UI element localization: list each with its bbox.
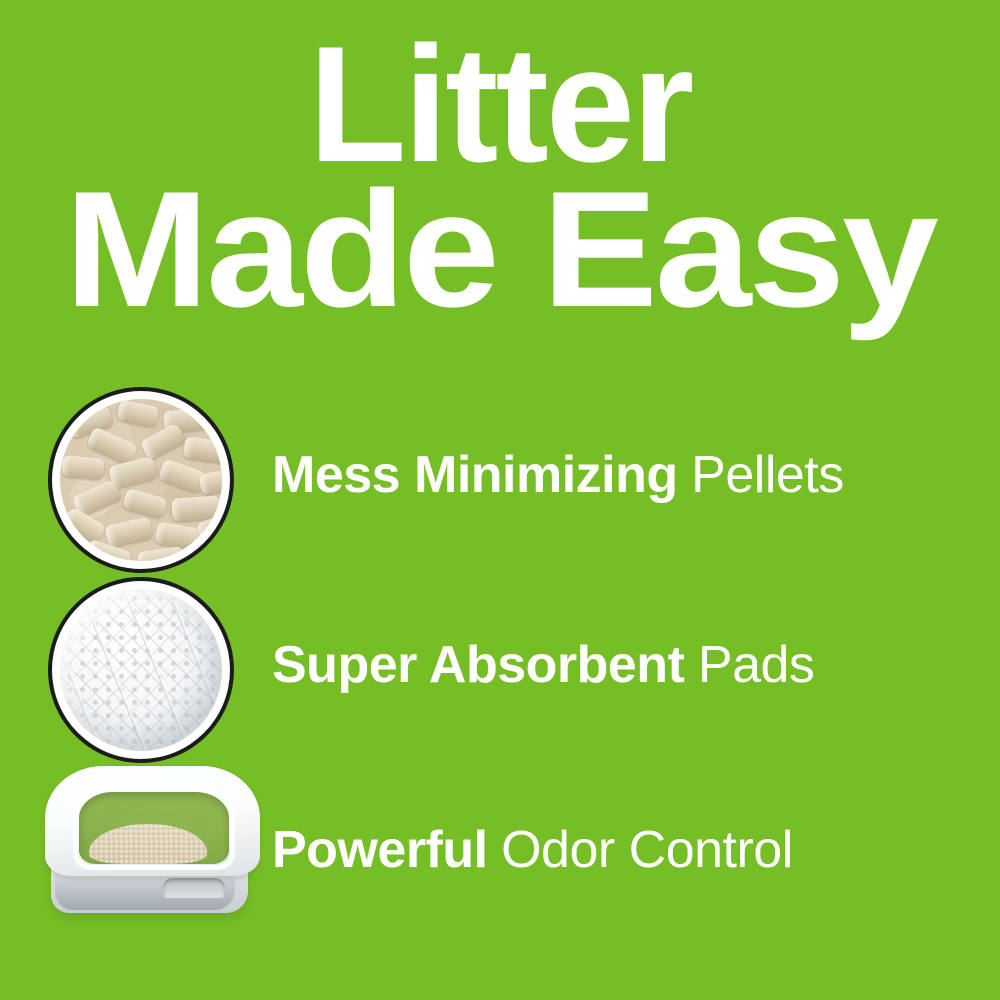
- feature-label-light: Pellets: [691, 449, 844, 501]
- feature-media-litter-box: [45, 760, 245, 950]
- feature-row-pellets: Mess Minimizing Pellets: [0, 380, 1000, 570]
- feature-label-light: Odor Control: [501, 824, 793, 876]
- medallion-white-ring: [52, 391, 230, 569]
- feature-list: Mess Minimizing Pellets: [0, 380, 1000, 940]
- absorbent-pad-photo: [60, 589, 222, 751]
- feature-media-pellets: [45, 380, 245, 570]
- litter-box-handle: [163, 878, 225, 898]
- medallion-white-ring: [52, 581, 230, 759]
- feature-label-strong: Powerful: [272, 824, 488, 876]
- feature-row-pads: Super Absorbent Pads: [0, 570, 1000, 760]
- pads-medallion: [48, 577, 234, 763]
- feature-media-pads: [45, 570, 245, 760]
- feature-label-strong: Mess Minimizing: [272, 449, 678, 501]
- feature-label-light: Pads: [698, 639, 815, 691]
- pellets-photo: [60, 399, 222, 561]
- headline-line-2: Made Easy: [0, 173, 1000, 326]
- feature-label-strong: Super Absorbent: [272, 639, 684, 691]
- feature-label-pads: Super Absorbent Pads: [272, 570, 814, 760]
- feature-label-odor: Powerful Odor Control: [272, 760, 793, 940]
- litter-box-photo: [45, 766, 260, 931]
- pad-shading: [60, 589, 222, 751]
- pellets-medallion: [48, 387, 234, 573]
- page-title: Litter Made Easy: [0, 28, 1000, 327]
- pellet: [61, 455, 105, 480]
- product-infographic: Litter Made Easy: [0, 0, 1000, 1000]
- feature-label-pellets: Mess Minimizing Pellets: [272, 380, 844, 570]
- feature-row-odor: Powerful Odor Control: [0, 760, 1000, 940]
- litter-box-rim-edge: [73, 786, 235, 870]
